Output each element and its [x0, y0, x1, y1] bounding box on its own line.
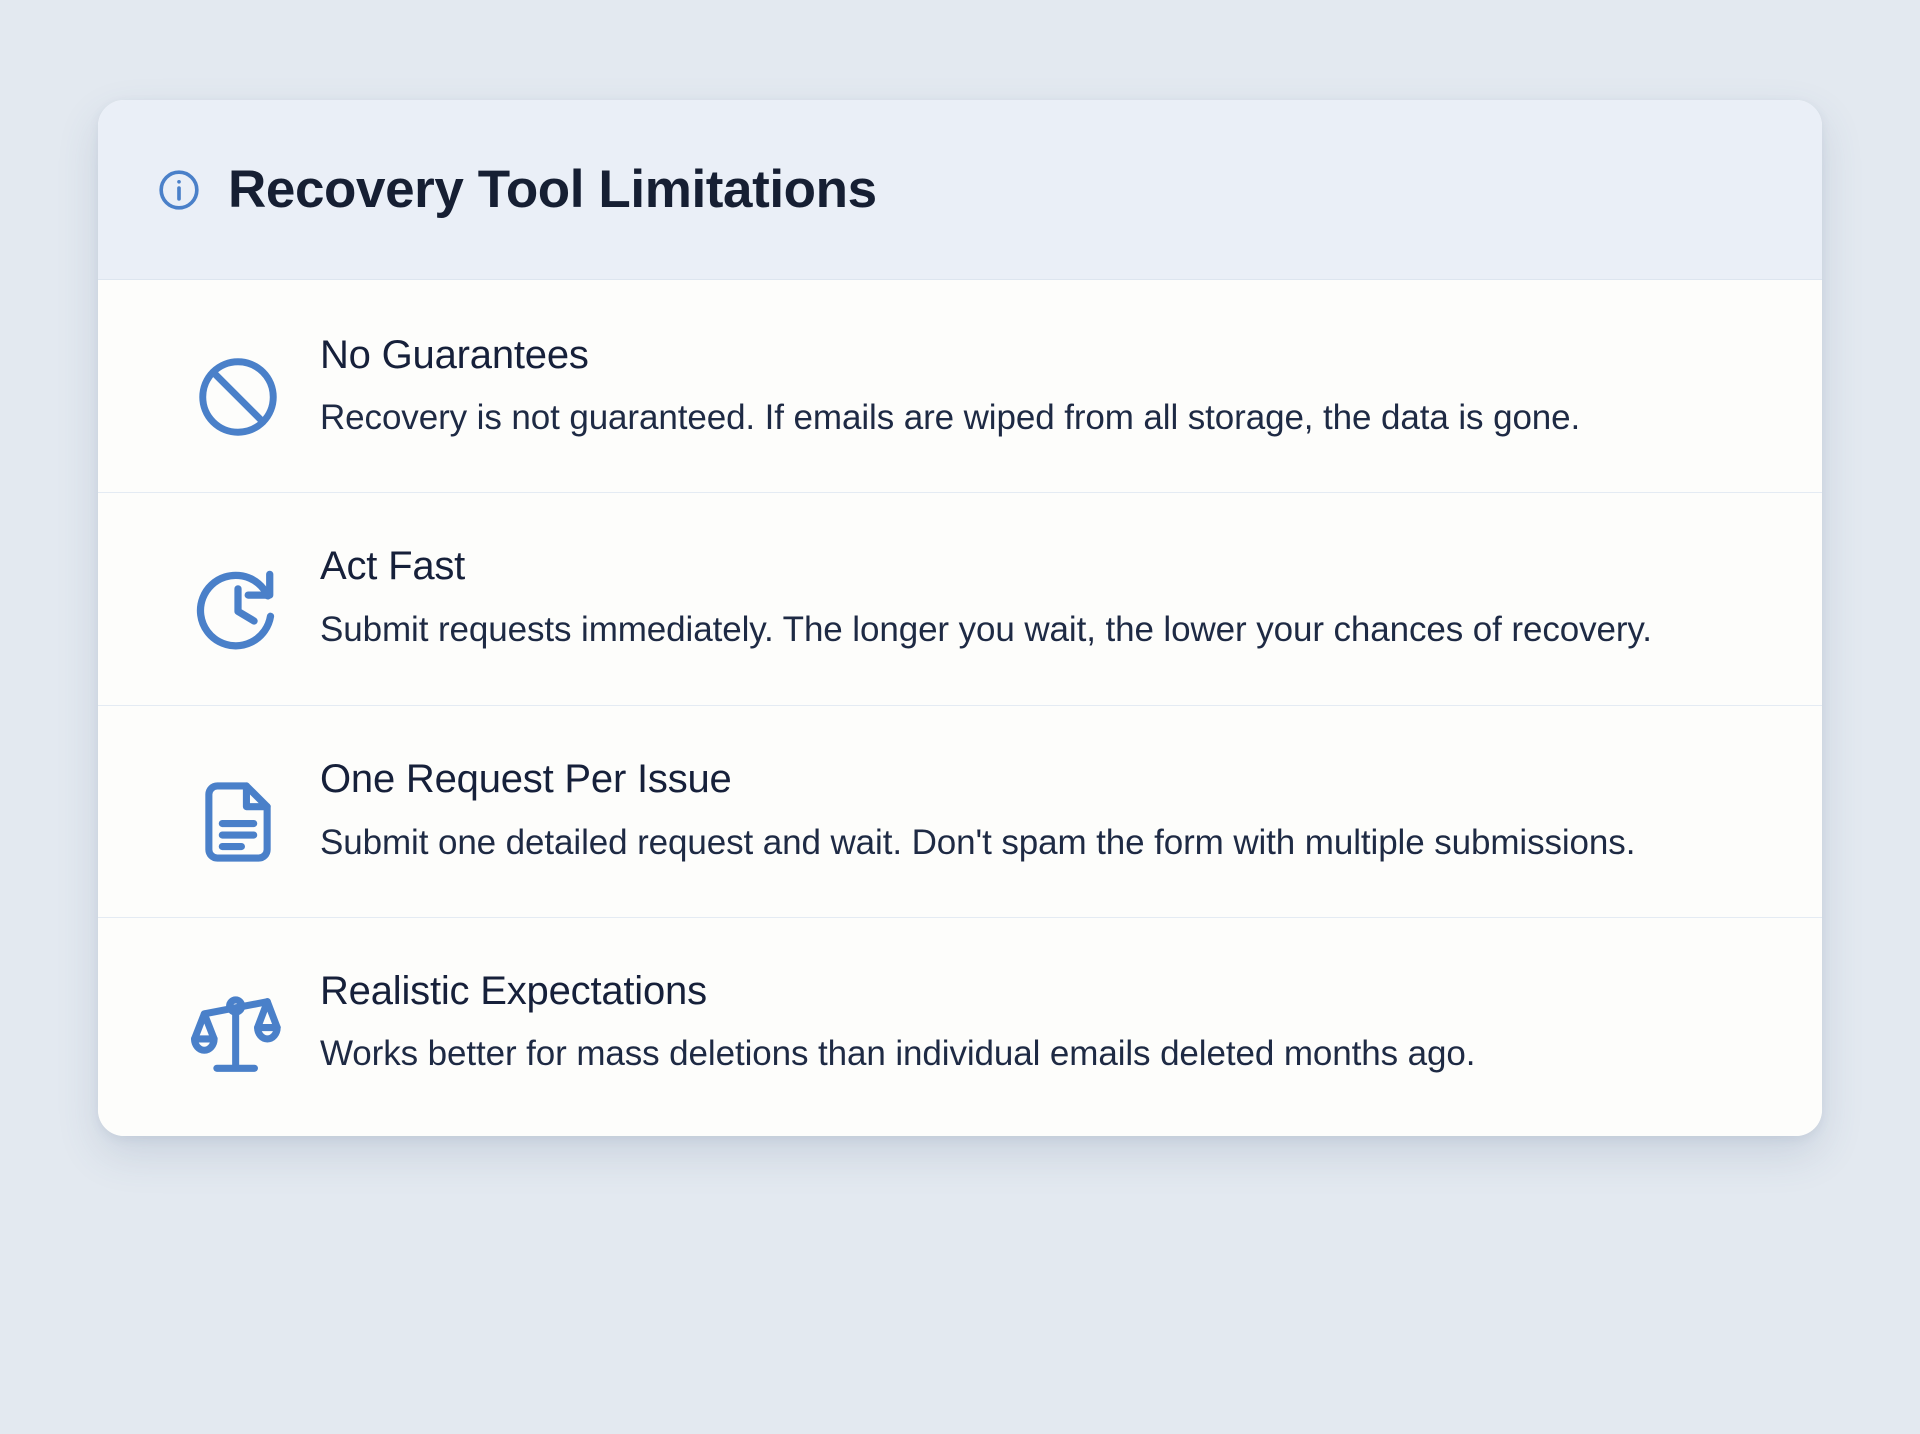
list-item-title: Act Fast [320, 543, 1674, 590]
document-lines-icon [156, 754, 320, 868]
no-entry-icon [156, 330, 320, 442]
list-item-title: Realistic Expectations [320, 968, 1674, 1015]
info-circle-icon [156, 167, 202, 213]
limitations-list: No Guarantees Recovery is not guaranteed… [98, 280, 1822, 1136]
card-header: Recovery Tool Limitations [98, 100, 1822, 280]
list-item-content: One Request Per Issue Submit one detaile… [320, 754, 1764, 868]
list-item: Realistic Expectations Works better for … [98, 918, 1822, 1136]
scales-balance-icon [156, 966, 320, 1082]
list-item-content: No Guarantees Recovery is not guaranteed… [320, 330, 1764, 444]
list-item-description: Recovery is not guaranteed. If emails ar… [320, 391, 1674, 444]
list-item-content: Act Fast Submit requests immediately. Th… [320, 541, 1764, 655]
list-item: Act Fast Submit requests immediately. Th… [98, 493, 1822, 706]
list-item: One Request Per Issue Submit one detaile… [98, 706, 1822, 917]
page-root: Recovery Tool Limitations No Guarantees … [0, 0, 1920, 1434]
list-item-title: No Guarantees [320, 332, 1674, 379]
list-item-content: Realistic Expectations Works better for … [320, 966, 1764, 1080]
list-item-description: Submit one detailed request and wait. Do… [320, 816, 1674, 869]
list-item-description: Submit requests immediately. The longer … [320, 603, 1674, 656]
page-title: Recovery Tool Limitations [228, 163, 877, 216]
clock-history-icon [156, 541, 320, 657]
list-item-description: Works better for mass deletions than ind… [320, 1027, 1674, 1080]
list-item-title: One Request Per Issue [320, 756, 1674, 803]
list-item: No Guarantees Recovery is not guaranteed… [98, 280, 1822, 493]
limitations-card: Recovery Tool Limitations No Guarantees … [98, 100, 1822, 1136]
